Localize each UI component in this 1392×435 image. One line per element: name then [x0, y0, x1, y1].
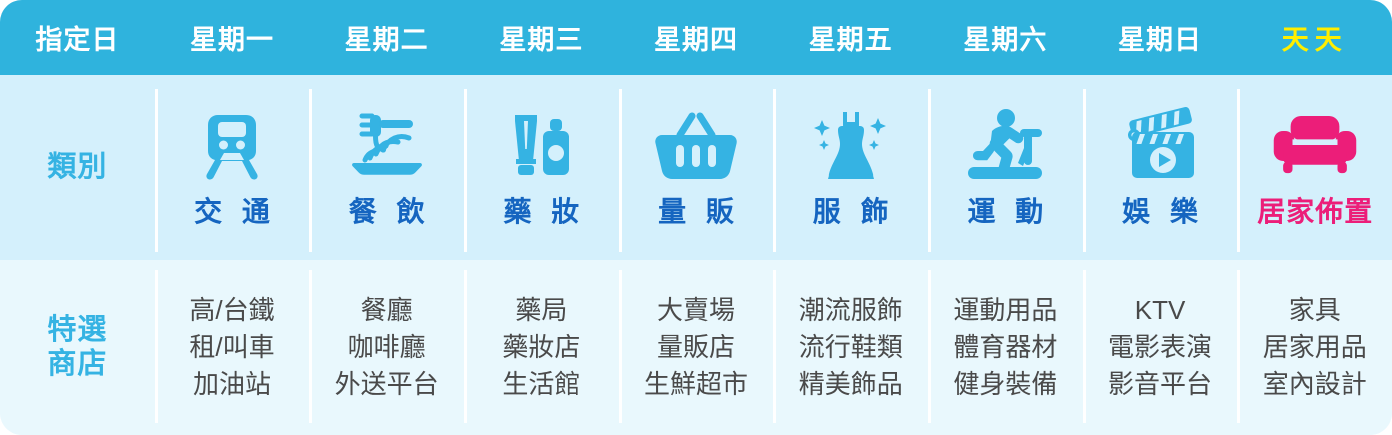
- treadmill-runner-icon: [960, 106, 1050, 184]
- category-cell-transport[interactable]: 交 通: [155, 75, 310, 260]
- store-line: 租/叫車: [189, 329, 274, 366]
- store-line: 藥妝店: [502, 329, 580, 366]
- store-cell-apparel[interactable]: 潮流服飾 流行鞋類 精美飾品: [773, 260, 928, 435]
- store-cell-hypermarket[interactable]: 大賣場 量販店 生鮮超市: [619, 260, 774, 435]
- store-line: 高/台鐵: [189, 292, 274, 329]
- store-line: 健身裝備: [953, 366, 1057, 403]
- category-label-home: 居家佈置: [1256, 190, 1373, 230]
- store-line: 藥局: [515, 292, 567, 329]
- category-label-hypermarket: 量 販: [652, 190, 740, 230]
- row-label-featured-stores-line-0: 特選: [47, 314, 107, 347]
- store-cell-transport[interactable]: 高/台鐵 租/叫車 加油站: [155, 260, 310, 435]
- row-label-featured-stores: 特選 商店: [0, 260, 155, 435]
- category-cell-sports[interactable]: 運 動: [928, 75, 1083, 260]
- header-cell-3[interactable]: 星期三: [464, 0, 619, 75]
- noodles-fork-icon: [342, 106, 432, 184]
- store-cell-home[interactable]: 家具 居家用品 室內設計: [1237, 260, 1392, 435]
- category-label-apparel: 服 飾: [807, 190, 895, 230]
- train-icon: [187, 106, 277, 184]
- header-cell-5[interactable]: 星期五: [773, 0, 928, 75]
- header-cell-7[interactable]: 星期日: [1083, 0, 1238, 75]
- row-label-featured-stores-line-1: 商店: [47, 348, 107, 381]
- store-line: 家具: [1289, 292, 1341, 329]
- store-line: 居家用品: [1263, 329, 1367, 366]
- header-cell-6[interactable]: 星期六: [928, 0, 1083, 75]
- store-cell-sports[interactable]: 運動用品 體育器材 健身裝備: [928, 260, 1083, 435]
- store-line: KTV: [1135, 292, 1186, 329]
- store-line: 外送平台: [335, 366, 439, 403]
- store-line: 體育器材: [953, 329, 1057, 366]
- store-line: 生活館: [502, 366, 580, 403]
- shopping-basket-icon: [651, 106, 741, 184]
- store-line: 量販店: [657, 329, 735, 366]
- category-label-entertainment: 娛 樂: [1116, 190, 1204, 230]
- promo-category-table: 指定日 星期一 星期二 星期三 星期四 星期五 星期六 星期日 天天 類別: [0, 0, 1392, 435]
- store-line: 潮流服飾: [799, 292, 903, 329]
- category-label-dining: 餐 飲: [343, 190, 431, 230]
- store-line: 室內設計: [1263, 366, 1367, 403]
- header-cell-1[interactable]: 星期一: [155, 0, 310, 75]
- store-line: 流行鞋類: [799, 329, 903, 366]
- header-cell-0[interactable]: 指定日: [0, 0, 155, 75]
- store-cell-dining[interactable]: 餐廳 咖啡廳 外送平台: [309, 260, 464, 435]
- store-line: 大賣場: [657, 292, 735, 329]
- row-label-category: 類別: [0, 75, 155, 260]
- store-line: 精美飾品: [799, 366, 903, 403]
- store-line: 咖啡廳: [348, 329, 426, 366]
- store-line: 運動用品: [953, 292, 1057, 329]
- category-label-transport: 交 通: [188, 190, 276, 230]
- cosmetics-tube-bottle-icon: [496, 106, 586, 184]
- store-line: 加油站: [193, 366, 271, 403]
- category-cell-drugstore[interactable]: 藥 妝: [464, 75, 619, 260]
- store-line: 生鮮超市: [644, 366, 748, 403]
- store-cell-entertainment[interactable]: KTV 電影表演 影音平台: [1083, 260, 1238, 435]
- category-cell-apparel[interactable]: 服 飾: [773, 75, 928, 260]
- category-cell-home[interactable]: 居家佈置: [1237, 75, 1392, 260]
- category-cell-hypermarket[interactable]: 量 販: [619, 75, 774, 260]
- category-cell-entertainment[interactable]: 娛 樂: [1083, 75, 1238, 260]
- store-cell-drugstore[interactable]: 藥局 藥妝店 生活館: [464, 260, 619, 435]
- sofa-icon: [1270, 106, 1360, 184]
- category-label-sports: 運 動: [961, 190, 1049, 230]
- row-label-category-text: 類別: [47, 151, 107, 184]
- store-line: 影音平台: [1108, 366, 1212, 403]
- header-cell-2[interactable]: 星期二: [309, 0, 464, 75]
- category-row: 類別 交 通: [0, 75, 1392, 260]
- header-cell-4[interactable]: 星期四: [619, 0, 774, 75]
- store-line: 電影表演: [1108, 329, 1212, 366]
- clapperboard-play-icon: [1115, 106, 1205, 184]
- header-cell-everyday[interactable]: 天天: [1237, 0, 1392, 75]
- category-cell-dining[interactable]: 餐 飲: [309, 75, 464, 260]
- store-line: 餐廳: [361, 292, 413, 329]
- sparkling-dress-icon: [806, 106, 896, 184]
- weekday-header-row: 指定日 星期一 星期二 星期三 星期四 星期五 星期六 星期日 天天: [0, 0, 1392, 75]
- category-label-drugstore: 藥 妝: [497, 190, 585, 230]
- store-row: 特選 商店 高/台鐵 租/叫車 加油站 餐廳 咖啡廳 外送平台 藥局 藥妝店 生…: [0, 260, 1392, 435]
